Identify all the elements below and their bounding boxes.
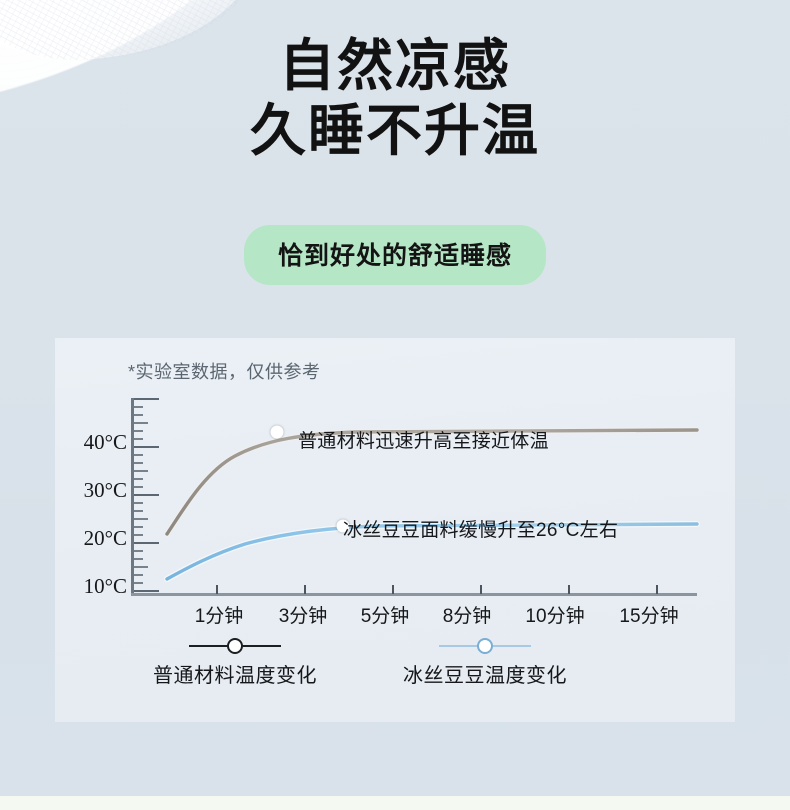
chart-legend: 普通材料温度变化 冰丝豆豆温度变化 [55,638,735,714]
x-axis-label-1min: 1分钟 [195,601,244,628]
legend-swatch-ice-silk [365,638,605,654]
annotation-ordinary-material: 普通材料迅速升高至接近体温 [298,426,549,453]
x-axis-tick-4 [480,585,482,594]
x-axis-tick-6 [656,585,658,594]
x-axis-tick-2 [304,585,306,594]
legend-label-ice-silk: 冰丝豆豆温度变化 [365,659,605,688]
annotation-ice-silk: 冰丝豆豆面料缓慢升至26°C左右 [343,515,618,542]
bottom-strip [0,796,790,810]
chart-card: *实验室数据，仅供参考 40°C 30°C 20°C 10°C [55,338,735,722]
legend-item-ordinary-material: 普通材料温度变化 [115,638,355,688]
headline-line-2: 久睡不升温 [0,99,790,164]
subtitle-pill: 恰到好处的舒适睡感 [244,225,546,285]
legend-swatch-ordinary [115,638,355,654]
promo-page: 自然凉感 久睡不升温 恰到好处的舒适睡感 *实验室数据，仅供参考 40°C 30… [0,0,790,810]
legend-dot-blue [477,638,493,654]
page-title: 自然凉感 久睡不升温 [0,34,790,164]
x-axis-label-15min: 15分钟 [619,601,678,628]
legend-dot-dark [227,638,243,654]
x-axis-label-5min: 5分钟 [361,601,410,628]
gray-curve-marker [271,426,284,439]
x-axis-tick-1 [216,585,218,594]
x-axis-tick-5 [568,585,570,594]
legend-item-ice-silk: 冰丝豆豆温度变化 [365,638,605,688]
headline-line-1: 自然凉感 [279,34,511,97]
x-axis-label-10min: 10分钟 [525,601,584,628]
x-axis-tick-3 [392,585,394,594]
x-axis-label-3min: 3分钟 [279,601,328,628]
legend-label-ordinary: 普通材料温度变化 [115,659,355,688]
x-axis-label-8min: 8分钟 [443,601,492,628]
